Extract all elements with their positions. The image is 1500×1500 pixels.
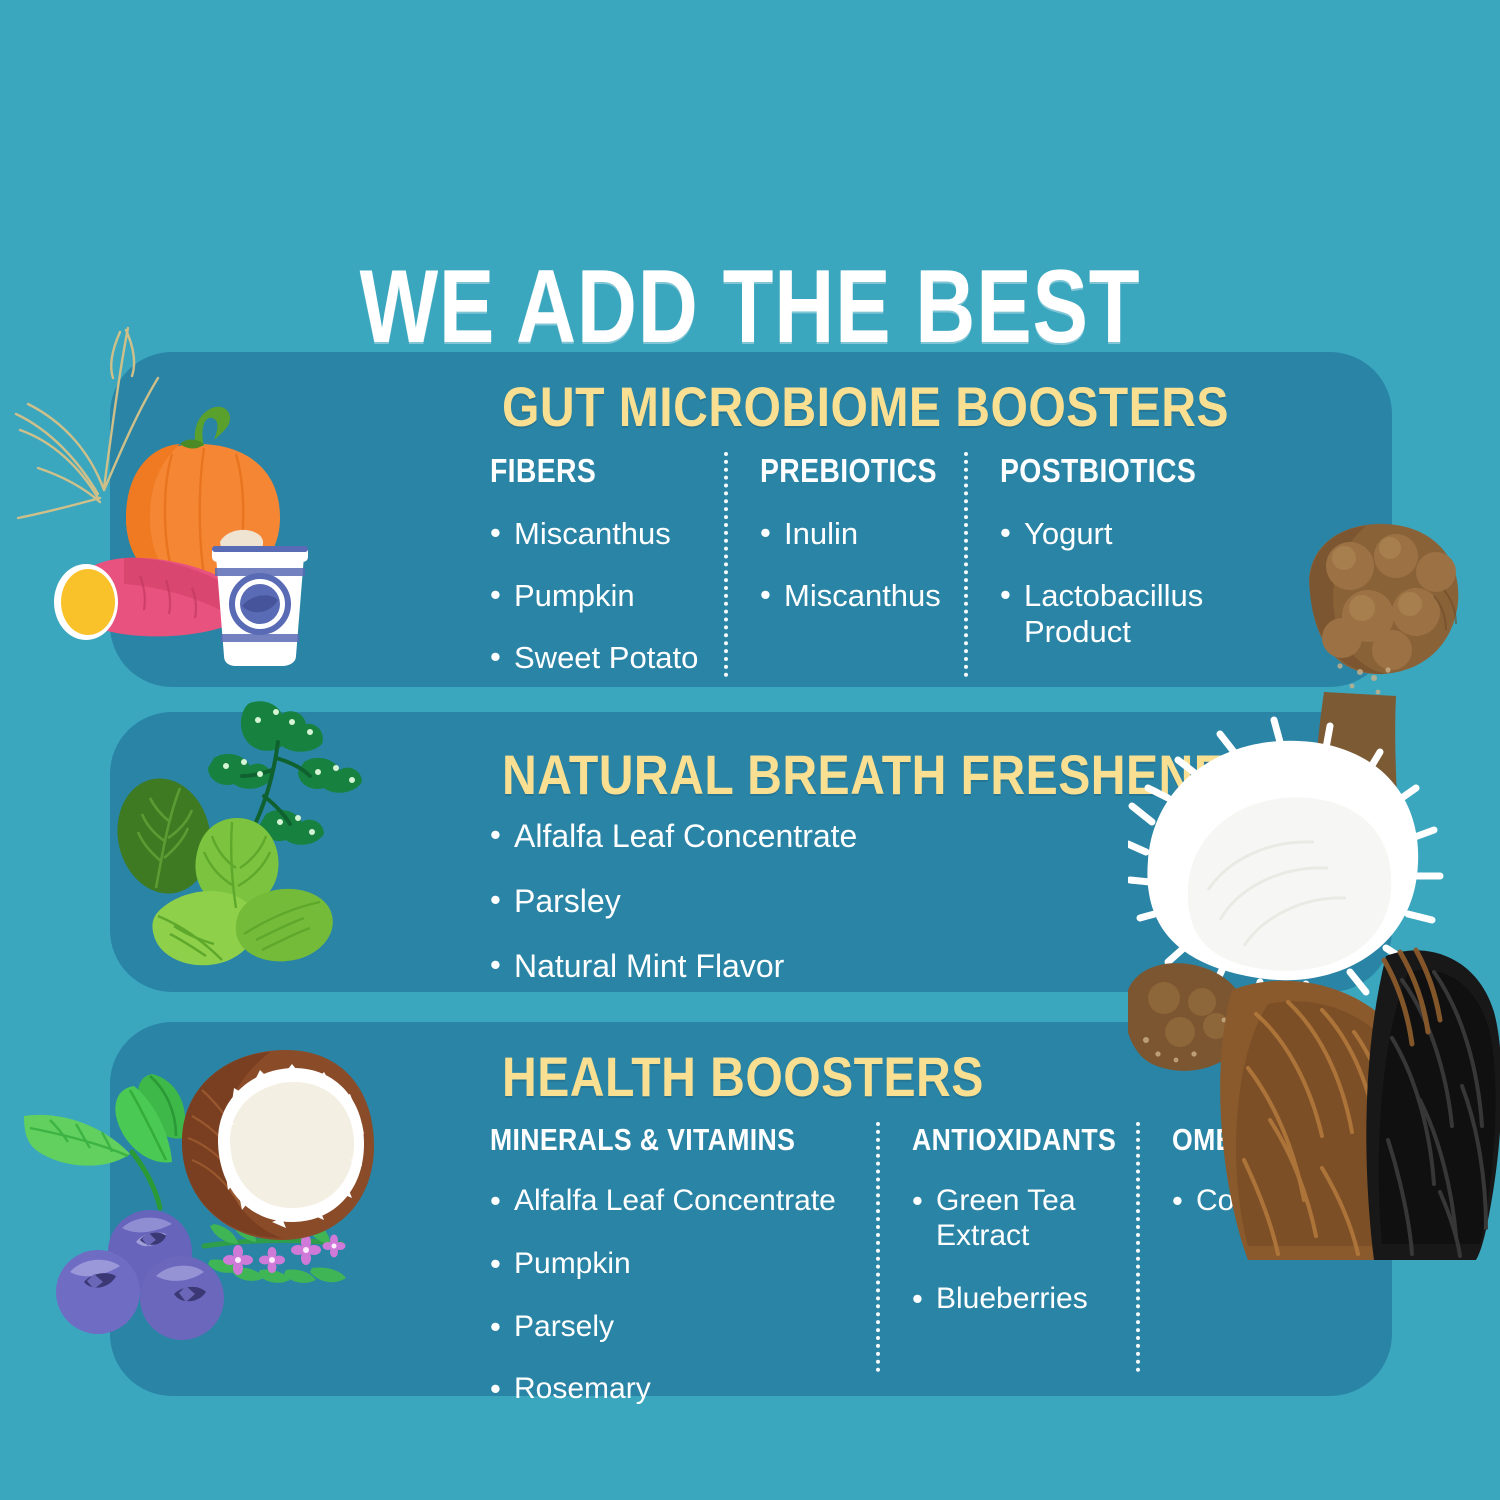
column-antioxidants: ANTIOXIDANTS Green Tea Extract Blueberri… (880, 1122, 1130, 1372)
column-heading-antioxidants: ANTIOXIDANTS (912, 1122, 1099, 1158)
column-heading-minerals-vitamins: MINERALS & VITAMINS (490, 1122, 817, 1158)
list-item: Miscanthus (760, 578, 958, 614)
list-item: Rosemary (490, 1372, 870, 1407)
list-item: Coconut Oil (1172, 1184, 1470, 1219)
column-fibers: FIBERS Miscanthus Pumpkin Sweet Potato (490, 452, 718, 677)
list-item: Parsely (490, 1310, 870, 1345)
list-item: Lactobacillus Product (1000, 578, 1268, 650)
list-postbiotics: Yogurt Lactobacillus Product (1000, 516, 1268, 650)
list-item: Green Tea Extract (912, 1184, 1130, 1254)
list-item: Inulin (760, 516, 958, 552)
health-columns: MINERALS & VITAMINS Alfalfa Leaf Concent… (490, 1122, 1470, 1372)
list-item: Parsley (490, 883, 1350, 920)
column-prebiotics: PREBIOTICS Inulin Miscanthus (728, 452, 958, 677)
card-gut-microbiome-boosters: GUT MICROBIOME BOOSTERS FIBERS Miscanthu… (110, 352, 1392, 687)
column-heading-prebiotics: PREBIOTICS (760, 452, 930, 490)
list-item: Pumpkin (490, 1247, 870, 1282)
list-item: Alfalfa Leaf Concentrate (490, 1184, 870, 1219)
card-title-health: HEALTH BOOSTERS (502, 1044, 984, 1109)
column-heading-omega-fatty-acids: OMEGA FATTY ACIDS (1172, 1122, 1428, 1158)
list-item: Natural Mint Flavor (490, 948, 1350, 985)
list-item: Blueberries (912, 1282, 1130, 1317)
list-item: Sweet Potato (490, 640, 718, 676)
infographic-stage: WE ADD THE BEST INGREDIENTS ON PURPOSE G… (0, 0, 1500, 1500)
list-antioxidants: Green Tea Extract Blueberries (912, 1184, 1130, 1316)
column-postbiotics: POSTBIOTICS Yogurt Lactobacillus Product (968, 452, 1268, 677)
list-fibers: Miscanthus Pumpkin Sweet Potato (490, 516, 718, 676)
column-minerals-vitamins: MINERALS & VITAMINS Alfalfa Leaf Concent… (490, 1122, 870, 1372)
list-item: Miscanthus (490, 516, 718, 552)
list-item: Yogurt (1000, 516, 1268, 552)
gut-columns: FIBERS Miscanthus Pumpkin Sweet Potato P… (490, 452, 1390, 677)
card-natural-breath-fresheners: NATURAL BREATH FRESHENERS Alfalfa Leaf C… (110, 712, 1392, 992)
card-health-boosters: HEALTH BOOSTERS MINERALS & VITAMINS Alfa… (110, 1022, 1392, 1396)
list-minerals-vitamins: Alfalfa Leaf Concentrate Pumpkin Parsely… (490, 1184, 870, 1407)
list-item: Pumpkin (490, 578, 718, 614)
card-title-breath: NATURAL BREATH FRESHENERS (502, 742, 1294, 807)
list-breath-fresheners: Alfalfa Leaf Concentrate Parsley Natural… (490, 818, 1350, 1013)
list-omega-fatty-acids: Coconut Oil (1172, 1184, 1470, 1219)
column-heading-postbiotics: POSTBIOTICS (1000, 452, 1230, 490)
list-item: Alfalfa Leaf Concentrate (490, 818, 1350, 855)
column-heading-fibers: FIBERS (490, 452, 686, 490)
page-title-line-1: WE ADD THE BEST (150, 258, 1350, 358)
card-title-gut: GUT MICROBIOME BOOSTERS (502, 374, 1229, 439)
list-prebiotics: Inulin Miscanthus (760, 516, 958, 614)
column-omega-fatty-acids: OMEGA FATTY ACIDS Coconut Oil (1140, 1122, 1470, 1372)
